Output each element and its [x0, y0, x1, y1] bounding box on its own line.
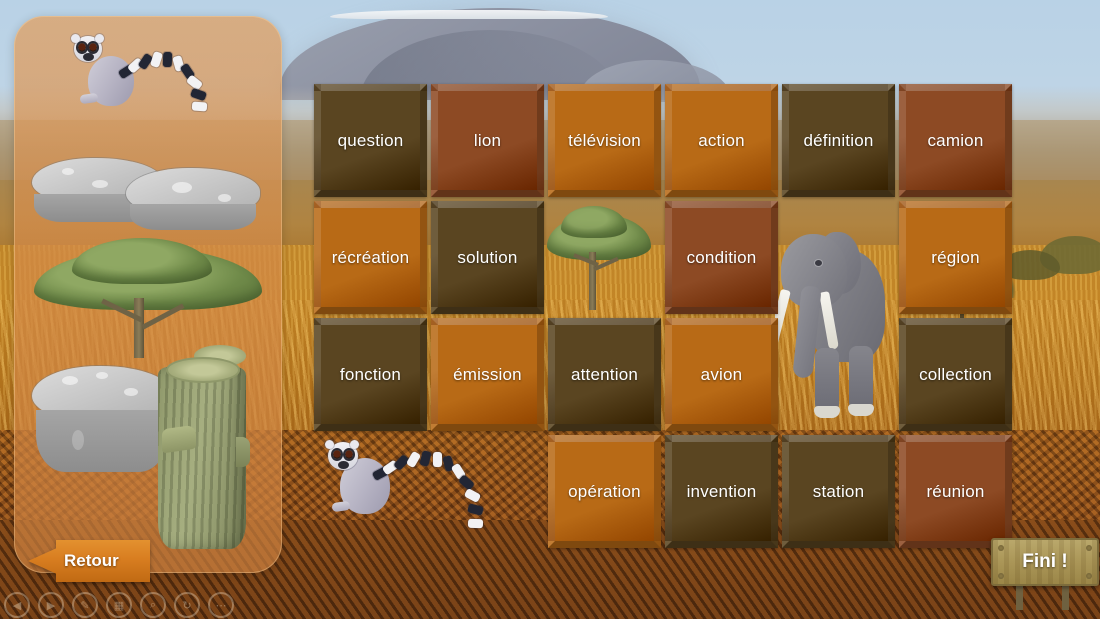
word-tile[interactable]: question: [314, 84, 427, 197]
word-tile-label: station: [809, 482, 869, 502]
grid-cell: télévision: [546, 82, 663, 199]
grid-cell-empty: [312, 433, 429, 550]
grid-cell-empty: [546, 199, 663, 316]
grid-cell: invention: [663, 433, 780, 550]
word-tile[interactable]: station: [782, 435, 895, 548]
grid-cell: action: [663, 82, 780, 199]
word-tile-label: question: [334, 131, 408, 151]
word-tile-label: opération: [564, 482, 645, 502]
word-tile[interactable]: émission: [431, 318, 544, 431]
grid-cell: émission: [429, 316, 546, 433]
word-tile[interactable]: télévision: [548, 84, 661, 197]
word-tile[interactable]: attention: [548, 318, 661, 431]
grid-cell: avion: [663, 316, 780, 433]
word-tile[interactable]: région: [899, 201, 1012, 314]
word-tile[interactable]: réunion: [899, 435, 1012, 548]
grid-cell: collection: [897, 316, 1014, 433]
word-tile-label: invention: [683, 482, 761, 502]
word-tile-label: région: [927, 248, 983, 268]
acacia-illustration-sidebar: [28, 244, 268, 354]
word-tile-label: camion: [923, 131, 987, 151]
word-tile-label: fonction: [336, 365, 405, 385]
grid-cell: condition: [663, 199, 780, 316]
word-tile-label: émission: [449, 365, 526, 385]
word-tile[interactable]: condition: [665, 201, 778, 314]
screw-icon: [998, 573, 1004, 579]
screw-icon: [1086, 573, 1092, 579]
grid-cell-empty: [780, 199, 897, 316]
word-tile-label: attention: [567, 365, 642, 385]
word-tile-label: lion: [470, 131, 505, 151]
word-tile-label: télévision: [564, 131, 645, 151]
word-tile[interactable]: collection: [899, 318, 1012, 431]
back-button[interactable]: Retour: [28, 540, 150, 582]
search-icon[interactable]: ⌕: [140, 592, 166, 618]
word-tile-label: récréation: [328, 248, 414, 268]
more-icon[interactable]: ⋯: [208, 592, 234, 618]
grid-cell: camion: [897, 82, 1014, 199]
play-icon[interactable]: ▶: [38, 592, 64, 618]
grid-cell-empty: [429, 433, 546, 550]
grid-cell: lion: [429, 82, 546, 199]
grid-cell: fonction: [312, 316, 429, 433]
word-tile-grid[interactable]: questionliontélévisionactiondéfinitionca…: [312, 82, 1014, 550]
grid-cell: attention: [546, 316, 663, 433]
word-tile-label: condition: [683, 248, 761, 268]
word-tile-label: solution: [453, 248, 521, 268]
grid-cell-empty: [780, 316, 897, 433]
word-tile-label: action: [694, 131, 749, 151]
word-tile[interactable]: récréation: [314, 201, 427, 314]
grid-cell: opération: [546, 433, 663, 550]
word-tile[interactable]: solution: [431, 201, 544, 314]
bottom-toolbar[interactable]: ◀▶✎▦⌕↻⋯: [4, 592, 234, 618]
pencil-icon[interactable]: ✎: [72, 592, 98, 618]
grid-cell: définition: [780, 82, 897, 199]
screw-icon: [998, 545, 1004, 551]
done-button[interactable]: Fini !: [991, 538, 1099, 586]
grid-cell: région: [897, 199, 1014, 316]
word-tile[interactable]: avion: [665, 318, 778, 431]
lemur-illustration-sidebar: [66, 30, 246, 122]
grid-cell: question: [312, 82, 429, 199]
tree-stump-illustration: [152, 341, 252, 551]
word-tile[interactable]: fonction: [314, 318, 427, 431]
back-icon[interactable]: ◀: [4, 592, 30, 618]
grid-cell: station: [780, 433, 897, 550]
word-tile-label: définition: [799, 131, 877, 151]
grid-cell: réunion: [897, 433, 1014, 550]
back-button-label: Retour: [64, 540, 146, 582]
word-tile[interactable]: camion: [899, 84, 1012, 197]
word-tile-label: réunion: [922, 482, 988, 502]
word-tile[interactable]: définition: [782, 84, 895, 197]
word-tile[interactable]: opération: [548, 435, 661, 548]
rock-illustration-sidebar: [22, 158, 272, 238]
grid-icon[interactable]: ▦: [106, 592, 132, 618]
word-tile-label: avion: [697, 365, 747, 385]
word-tile-label: collection: [915, 365, 996, 385]
word-tile[interactable]: lion: [431, 84, 544, 197]
grid-cell: récréation: [312, 199, 429, 316]
refresh-icon[interactable]: ↻: [174, 592, 200, 618]
game-stage: Retour questionliontélévisionactiondéfin…: [0, 0, 1100, 619]
screw-icon: [1086, 545, 1092, 551]
done-button-label: Fini !: [1022, 551, 1067, 573]
grid-cell: solution: [429, 199, 546, 316]
animal-panel: [14, 16, 282, 573]
word-tile[interactable]: invention: [665, 435, 778, 548]
word-tile[interactable]: action: [665, 84, 778, 197]
